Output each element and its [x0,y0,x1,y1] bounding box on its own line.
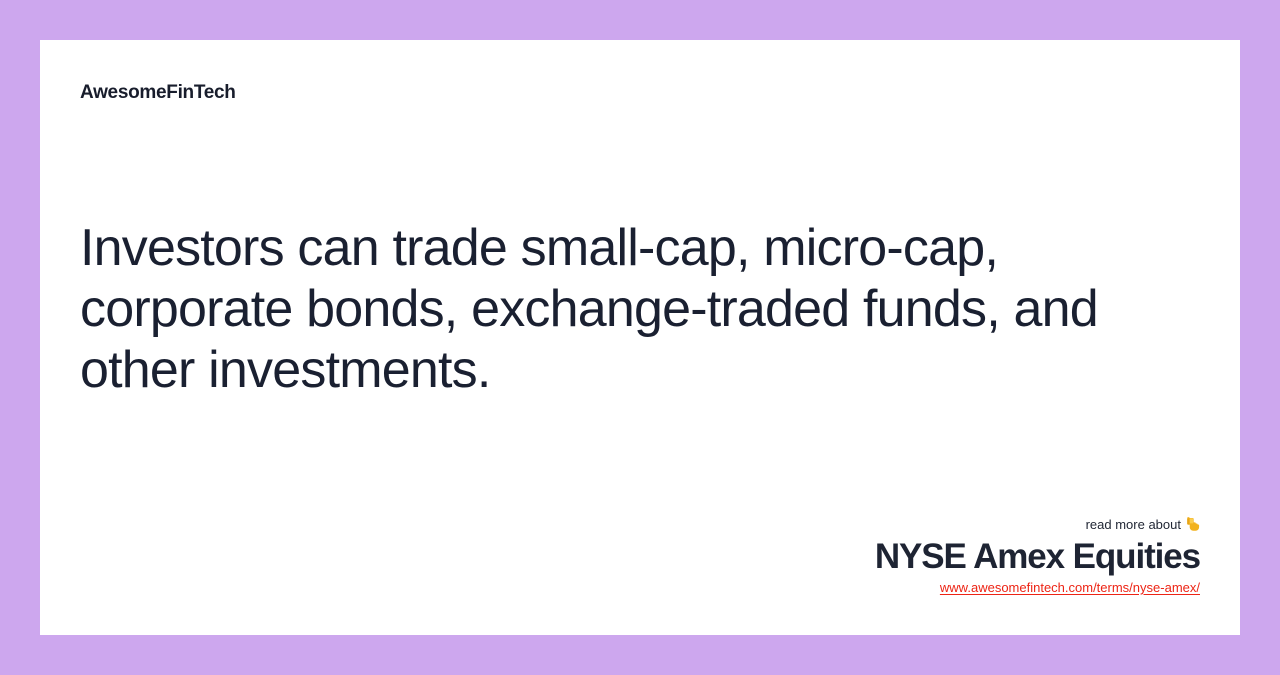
pointing-down-hand-icon [1186,517,1200,532]
quote-text: Investors can trade small-cap, micro-cap… [80,218,1170,401]
term-attribution-block: read more about NYSE Amex Equities www.a… [560,516,1200,597]
term-title: NYSE Amex Equities [560,536,1200,578]
page-background: AwesomeFinTech Investors can trade small… [0,0,1280,675]
term-url-link[interactable]: www.awesomefintech.com/terms/nyse-amex/ [940,579,1200,597]
read-more-label: read more about [1086,517,1181,532]
quote-card: AwesomeFinTech Investors can trade small… [40,40,1240,635]
read-more-row: read more about [560,516,1200,534]
brand-logo-text[interactable]: AwesomeFinTech [80,82,236,104]
